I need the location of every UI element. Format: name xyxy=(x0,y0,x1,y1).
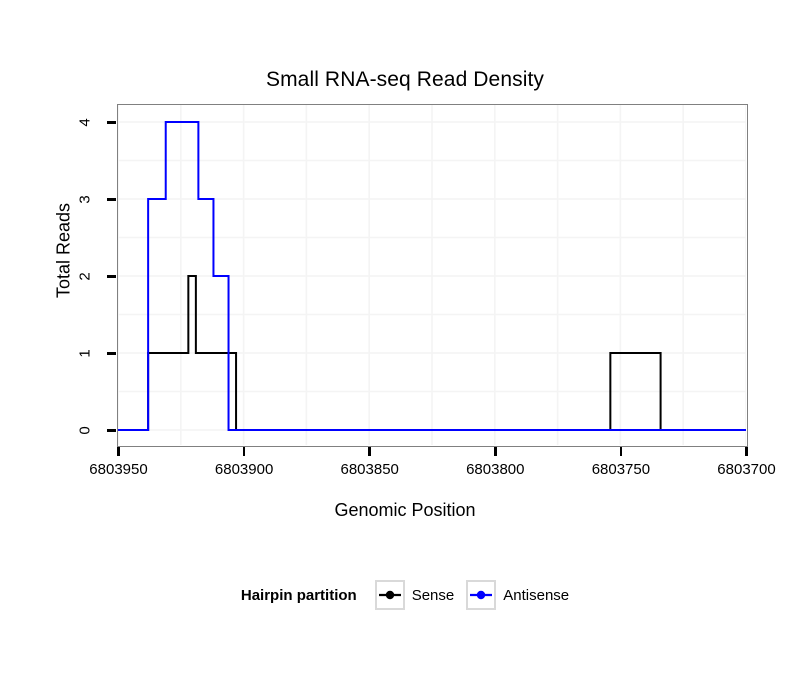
legend-entry-antisense[interactable]: Antisense xyxy=(466,580,569,610)
y-tick-label: 0 xyxy=(77,417,94,443)
y-tick-mark xyxy=(107,275,116,278)
x-axis-title: Genomic Position xyxy=(0,500,810,521)
x-tick-label: 6803800 xyxy=(435,461,555,478)
chart-title: Small RNA-seq Read Density xyxy=(0,68,810,92)
x-tick-mark xyxy=(117,447,120,456)
x-tick-mark xyxy=(745,447,748,456)
chart-root: Small RNA-seq Read Density 01234 6803950… xyxy=(0,0,810,690)
x-tick-label: 6803900 xyxy=(184,461,304,478)
x-tick-mark xyxy=(368,447,371,456)
y-tick-label: 3 xyxy=(77,186,94,212)
y-axis-title: Total Reads xyxy=(54,151,75,351)
legend-key-antisense xyxy=(466,580,496,610)
x-tick-mark xyxy=(494,447,497,456)
plot-area xyxy=(118,105,746,445)
plot-panel xyxy=(117,104,748,447)
x-tick-mark xyxy=(620,447,623,456)
legend-title: Hairpin partition xyxy=(241,587,357,604)
y-tick-mark xyxy=(107,121,116,124)
y-tick-label: 1 xyxy=(77,340,94,366)
legend-label: Antisense xyxy=(503,587,569,604)
x-tick-label: 6803750 xyxy=(561,461,681,478)
y-tick-label: 2 xyxy=(77,263,94,289)
legend-point-icon xyxy=(378,583,402,607)
x-tick-label: 6803850 xyxy=(310,461,430,478)
gridlines xyxy=(118,105,746,445)
y-tick-label: 4 xyxy=(77,109,94,135)
x-tick-label: 6803700 xyxy=(687,461,807,478)
x-tick-label: 6803950 xyxy=(59,461,179,478)
y-tick-mark xyxy=(107,198,116,201)
legend-point-icon xyxy=(469,583,493,607)
legend: Hairpin partition SenseAntisense xyxy=(0,580,810,610)
legend-entry-sense[interactable]: Sense xyxy=(375,580,455,610)
x-tick-mark xyxy=(243,447,246,456)
legend-label: Sense xyxy=(412,587,455,604)
legend-entries: SenseAntisense xyxy=(375,580,569,610)
legend-key-sense xyxy=(375,580,405,610)
y-tick-mark xyxy=(107,352,116,355)
y-tick-mark xyxy=(107,429,116,432)
